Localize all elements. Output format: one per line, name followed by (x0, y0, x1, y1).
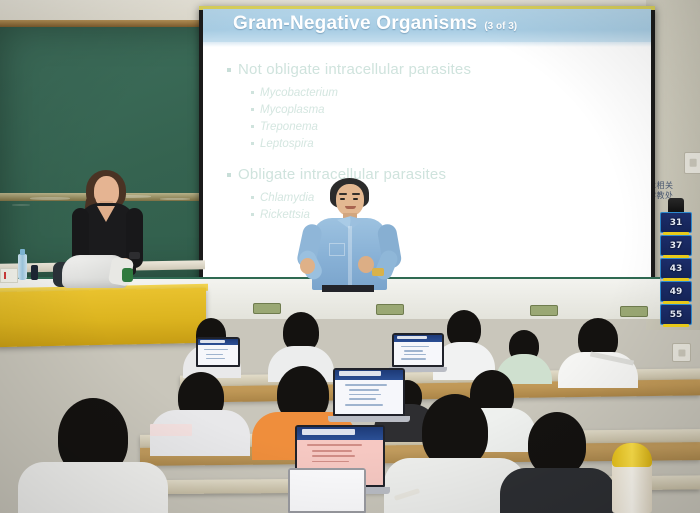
placard-mount (668, 198, 684, 212)
board-clip (620, 306, 648, 317)
slide-title-main: Gram-Negative Organisms (233, 13, 477, 35)
bullet-square-icon (251, 108, 254, 111)
laptop-base (328, 416, 410, 422)
laptop-lid (392, 333, 444, 367)
placard: 55 (660, 304, 692, 325)
placard-bar (663, 324, 689, 327)
bullet-text: Treponema (260, 121, 318, 133)
bullet-square-icon (251, 91, 254, 94)
bullet-text: Leptospira (260, 138, 314, 150)
paper-on-desk (150, 424, 192, 436)
board-clip (253, 303, 281, 314)
bullet-square-icon (251, 196, 254, 199)
slide-watermark (617, 43, 643, 273)
mini-slide-title-bar (394, 335, 442, 342)
seat-number-placards: 31 37 43 49 55 (660, 212, 694, 327)
podium (0, 288, 206, 347)
mobile-phone (31, 265, 38, 280)
classroom-photo: 术相关 学教处 31 37 43 49 55 Gram-Negative Org… (0, 0, 700, 513)
projected-slide: Gram-Negative Organisms (3 of 3) Not obl… (203, 9, 651, 286)
placard: 49 (660, 281, 692, 302)
bullet-square-icon (251, 142, 254, 145)
shirt-pocket (329, 243, 345, 256)
board-clip (376, 304, 404, 315)
right-eyebrow (352, 193, 360, 195)
laptop-screen (394, 335, 442, 365)
slide-bullet-level1: Not obligate intracellular parasites (227, 61, 627, 78)
placard: 43 (660, 258, 692, 279)
placard: 37 (660, 235, 692, 256)
slide-bullet-level2: Mycoplasma (251, 104, 627, 116)
bullet-square-icon (227, 68, 231, 72)
desk-box (0, 268, 18, 283)
mouth (345, 206, 356, 209)
laptop-lid (196, 337, 240, 367)
placard-number: 43 (670, 264, 683, 274)
wristwatch (372, 268, 384, 276)
left-eyebrow (339, 193, 347, 195)
placard-number: 31 (670, 218, 683, 228)
slide-bullet-level2: Treponema (251, 121, 627, 133)
wristwatch (129, 252, 140, 259)
wall-socket-lower (672, 343, 691, 362)
student-head (422, 394, 488, 468)
placard: 31 (660, 212, 692, 233)
placard-number: 55 (670, 310, 683, 320)
slide-bullet-level2: Chlamydia (251, 192, 627, 204)
laptop-lid (288, 468, 366, 513)
mini-slide-title-bar (297, 427, 383, 440)
student-head (528, 412, 586, 476)
left-hand-gesturing (300, 258, 315, 274)
thermos-cap (612, 443, 652, 467)
slide-body: Not obligate intracellular parasites Myc… (227, 61, 627, 226)
bullet-text: Mycobacterium (260, 87, 338, 99)
green-bag-detail (122, 268, 133, 282)
bullet-square-icon (251, 125, 254, 128)
placard-number: 37 (670, 241, 683, 251)
water-bottle (18, 254, 27, 280)
laptop-screen (335, 370, 403, 414)
placard-number: 49 (670, 287, 683, 297)
slide-bullet-group-2: Obligate intracellular parasites Chlamyd… (227, 166, 627, 221)
laptop-screen (290, 470, 364, 511)
slide-bullet-level2: Mycobacterium (251, 87, 627, 99)
board-clip (530, 305, 558, 316)
wall-socket-upper (684, 152, 700, 174)
belt (322, 285, 374, 292)
bullet-square-icon (251, 213, 254, 216)
slide-bullet-level1: Obligate intracellular parasites (227, 166, 627, 183)
mini-slide-title-bar (198, 339, 238, 345)
bullet-square-icon (227, 173, 231, 177)
slide-bullet-level2: Rickettsia (251, 209, 627, 221)
student-body (500, 468, 616, 513)
slide-title: Gram-Negative Organisms (3 of 3) (233, 13, 517, 35)
bullet-text: Mycoplasma (260, 104, 325, 116)
laptop-screen (198, 339, 238, 365)
shirt-placket (348, 226, 352, 290)
bullet-text: Chlamydia (260, 192, 314, 204)
slide-bullet-level2: Leptospira (251, 138, 627, 150)
mini-slide-title-bar (335, 370, 403, 380)
slide-title-sub: (3 of 3) (484, 21, 517, 32)
student-body (18, 462, 168, 513)
laptop-lid (333, 368, 405, 416)
bullet-text: Not obligate intracellular parasites (238, 61, 471, 78)
bullet-text: Rickettsia (260, 209, 310, 221)
